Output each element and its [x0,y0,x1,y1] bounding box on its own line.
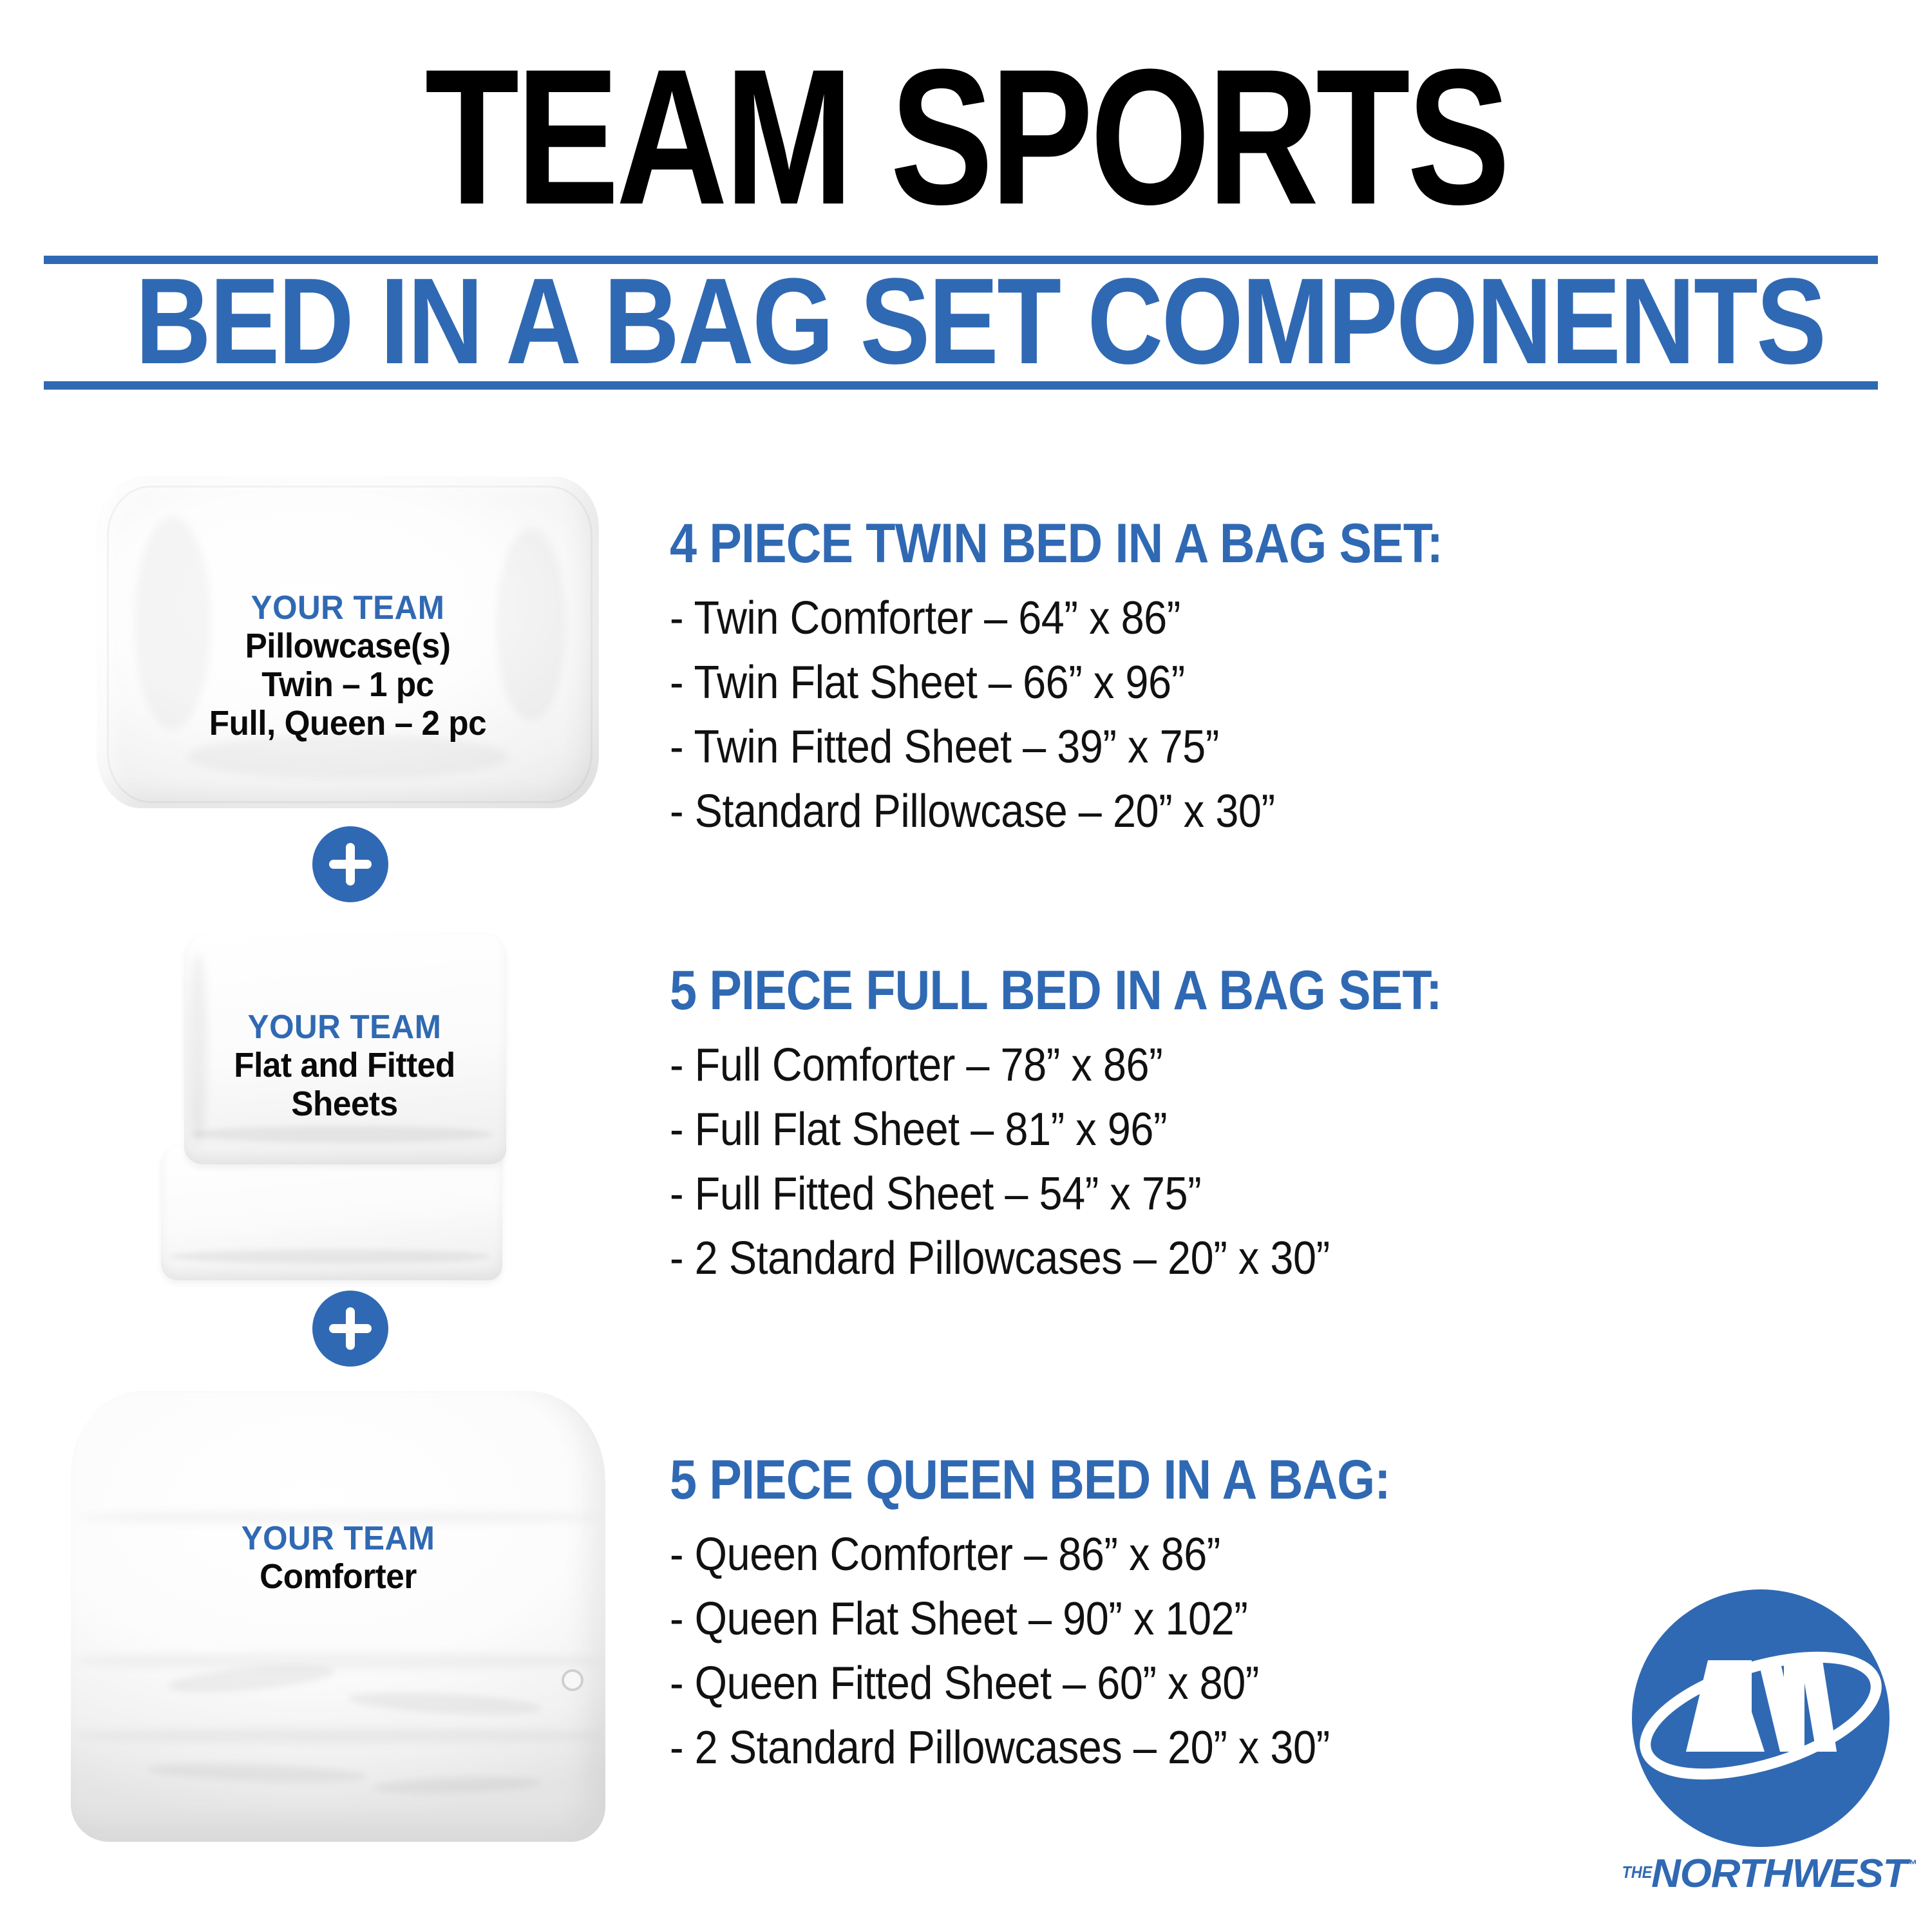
logo-the-text: THE [1622,1862,1653,1882]
section-twin: YOUR TEAM Pillowcase(s) Twin – 1 pc Full… [0,451,1932,811]
pillow-crease [496,528,567,721]
logo-name-text: NORTHWEST [1651,1851,1907,1897]
nw-monogram-swoosh-icon [1632,1589,1889,1847]
pillow-icon: YOUR TEAM Pillowcase(s) Twin – 1 pc Full… [97,477,599,808]
full-item-list: - Full Comforter – 78” x 86” - Full Flat… [670,1033,1829,1291]
list-item: - 2 Standard Pillowcases – 20” x 30” [670,1716,1713,1780]
pillow-crease [187,734,509,779]
list-item: - Queen Fitted Sheet – 60” x 80” [670,1651,1713,1716]
list-item: - Twin Comforter – 64” x 86” [670,586,1713,650]
twin-text-block: 4 PIECE TWIN BED IN A BAG SET: - Twin Co… [670,513,1829,844]
list-item: - Full Flat Sheet – 81” x 96” [670,1097,1713,1162]
comforter-grommet [562,1669,583,1691]
list-item: - Twin Fitted Sheet – 39” x 75” [670,715,1713,779]
list-item: - Full Fitted Sheet – 54” x 75” [670,1162,1713,1226]
logo-wordmark: THENORTHWEST™ [1620,1851,1901,1897]
list-item: - Queen Flat Sheet – 90” x 102” [670,1587,1713,1651]
plus-icon [312,1291,388,1367]
page-title: TEAM SPORTS [193,40,1739,233]
full-text-block: 5 PIECE FULL BED IN A BAG SET: - Full Co… [670,960,1829,1291]
comforter-band [75,1728,601,1743]
list-item: - Queen Comforter – 86” x 86” [670,1522,1713,1587]
northwest-logo: THENORTHWEST™ [1620,1589,1901,1911]
full-heading: 5 PIECE FULL BED IN A BAG SET: [670,960,1690,1021]
list-item: - Standard Pillowcase – 20” x 30” [670,779,1713,844]
sheet-fold [169,1249,491,1264]
pillow-crease [134,516,211,729]
comforter-band [75,1511,601,1524]
comforter-band [75,1653,601,1669]
divider-bottom [44,381,1878,390]
page-subtitle: BED IN A BAG SET COMPONENTS [135,260,1797,383]
section-full: YOUR TEAM Flat and Fitted Sheets 5 PIECE… [0,914,1932,1288]
folded-comforter-icon: YOUR TEAM Comforter [71,1391,605,1842]
page-header: TEAM SPORTS BED IN A BAG SET COMPONENTS [0,0,1932,412]
list-item: - 2 Standard Pillowcases – 20” x 30” [670,1226,1713,1291]
queen-heading: 5 PIECE QUEEN BED IN A BAG: [670,1449,1690,1511]
twin-item-list: - Twin Comforter – 64” x 86” - Twin Flat… [670,586,1829,844]
sheet-fold [191,1126,493,1142]
list-item: - Twin Flat Sheet – 66” x 96” [670,650,1713,715]
twin-heading: 4 PIECE TWIN BED IN A BAG SET: [670,513,1690,574]
folded-sheets-icon: YOUR TEAM Flat and Fitted Sheets [161,933,528,1280]
sheet-fold [188,952,207,1145]
list-item: - Full Comforter – 78” x 86” [670,1033,1713,1097]
plus-icon [312,826,388,902]
